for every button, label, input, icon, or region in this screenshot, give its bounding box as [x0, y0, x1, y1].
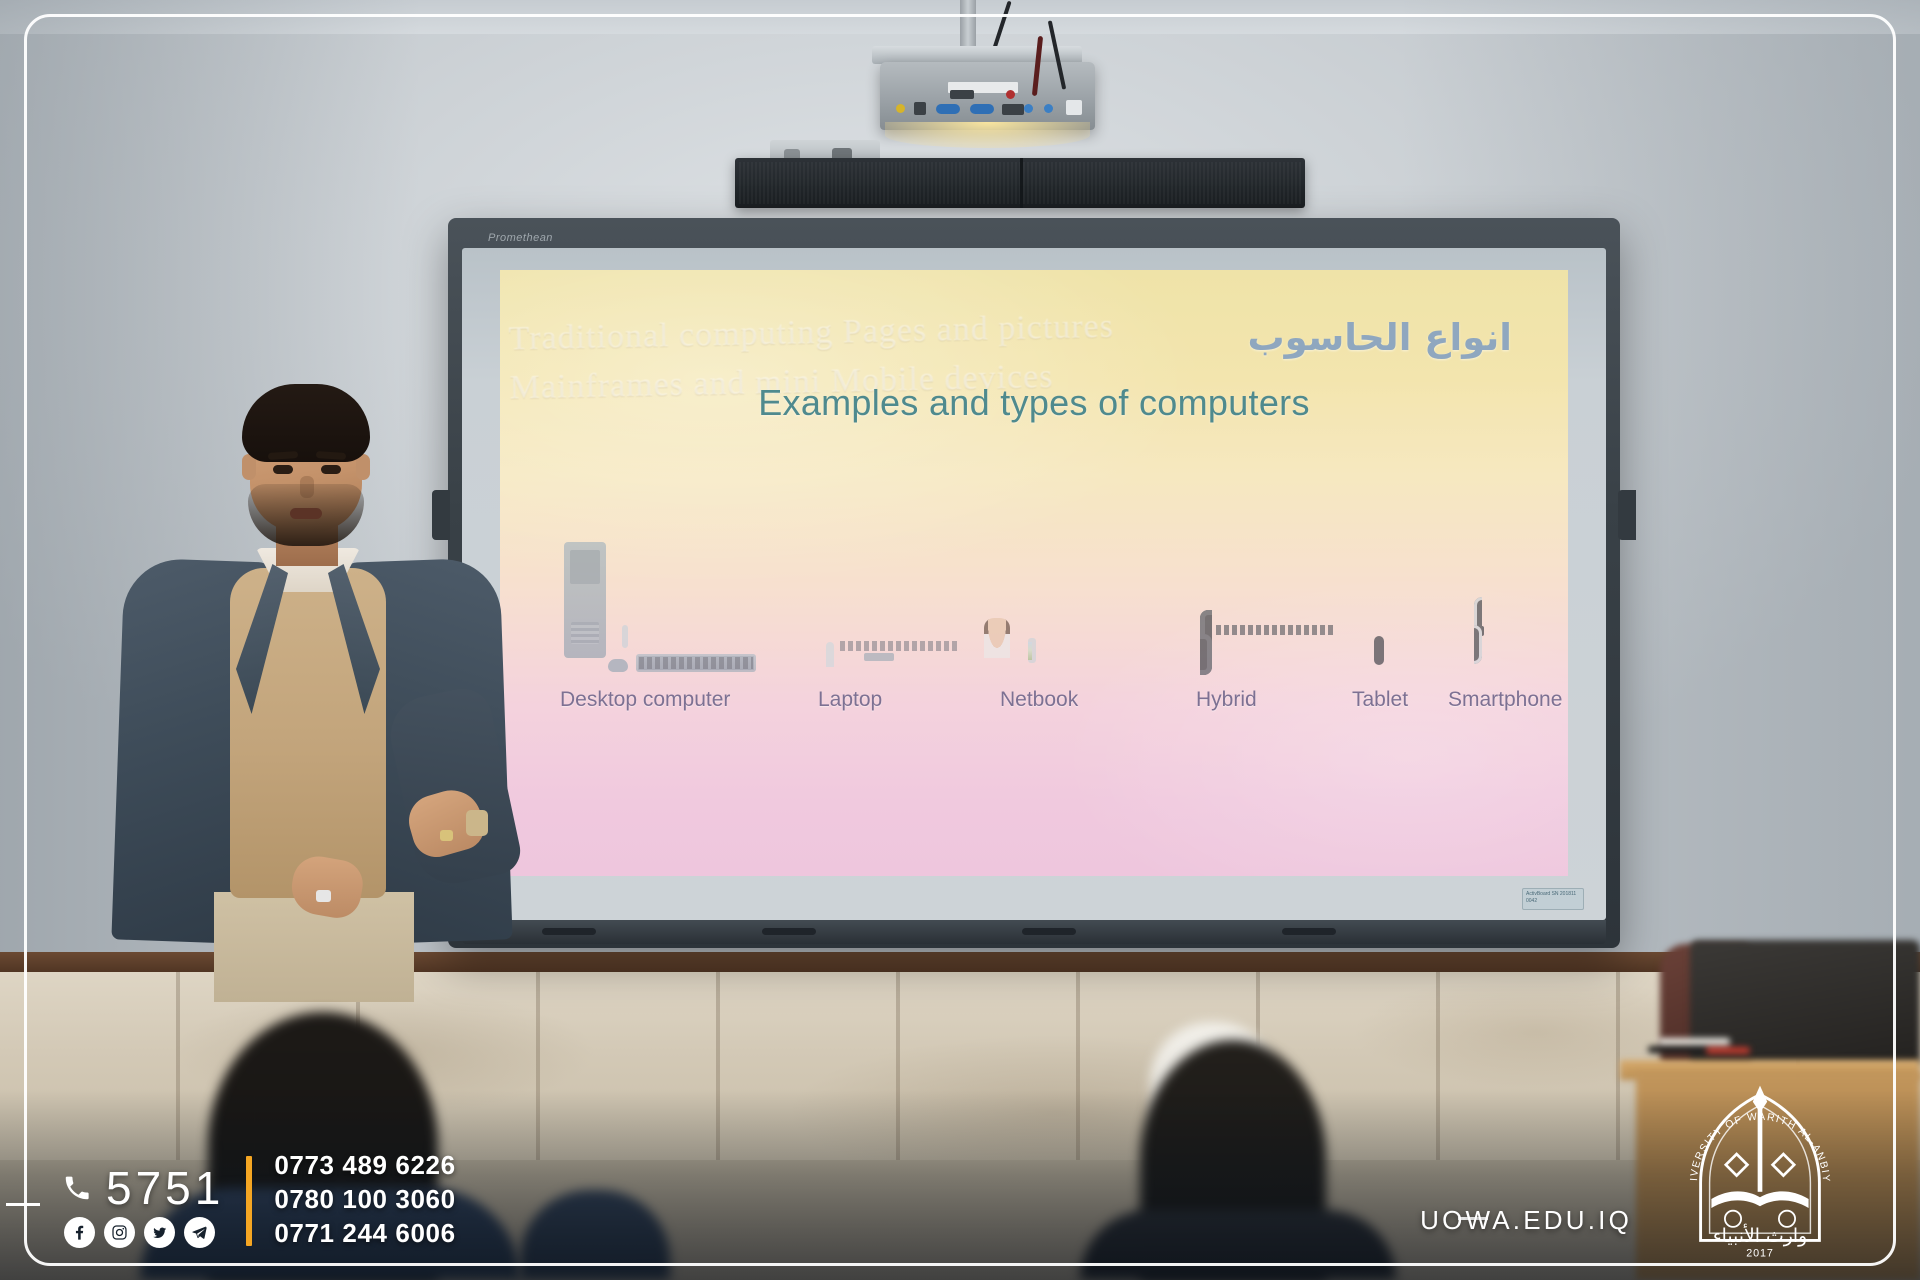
desk-item-papers: [1658, 1038, 1730, 1045]
pen-tray-slot-1: [542, 928, 596, 935]
desktop-keyboard-icon: [636, 654, 756, 672]
whiteboard-pen-tray[interactable]: [462, 920, 1606, 944]
slide-device-netbook: [1028, 642, 1032, 660]
desk-item-marker-black: [1648, 1046, 1712, 1053]
smartphone-body: [1474, 597, 1484, 664]
whiteboard-bracket-right: [1618, 490, 1636, 540]
presenter-eye-left: [273, 465, 293, 474]
logo-ring-text: UNIVERSITY OF WARITH AL-ANBIYAA: [1670, 1082, 1831, 1182]
tower-drive-bay: [570, 550, 600, 584]
hotline-number: 5751: [106, 1165, 224, 1211]
logo-ornament-right: [1773, 1154, 1795, 1176]
logo-year: 2017: [1746, 1248, 1774, 1260]
website-url[interactable]: UOWA.EDU.IQ: [1420, 1205, 1632, 1236]
projector-port-lan: [1066, 100, 1082, 115]
facebook-icon[interactable]: [64, 1217, 95, 1248]
hybrid-icon: [1200, 622, 1212, 664]
phone-number-2: 0780 100 3060: [274, 1185, 455, 1214]
tablet-body: [1374, 636, 1384, 665]
telegram-icon[interactable]: [184, 1217, 215, 1248]
presenter-hair: [242, 384, 370, 462]
netbook-icon: [1028, 642, 1032, 660]
audience-shoulders-right: [1080, 1210, 1396, 1280]
projector-port-audio-r: [1006, 90, 1015, 99]
footer-dash-left: [6, 1203, 40, 1206]
netbook-lid: [1028, 638, 1036, 663]
slide-device-smartphone: [1474, 608, 1484, 654]
wall-soundbar: [735, 158, 1305, 208]
phone-numbers-list: 0773 489 6226 0780 100 3060 0771 244 600…: [274, 1151, 455, 1248]
device-label-desktop-computer: Desktop computer: [560, 688, 730, 712]
projected-slide: Traditional computing Pages and pictures…: [500, 270, 1568, 876]
whiteboard-surface[interactable]: Traditional computing Pages and pictures…: [462, 248, 1606, 920]
monitor-panel: [622, 625, 628, 648]
netbook-wallpaper: [1028, 642, 1032, 660]
presenter-eye-right: [321, 465, 341, 474]
laptop-trackpad: [864, 653, 894, 661]
presenter-wristwatch: [466, 810, 488, 836]
desktop-tower-icon: [564, 542, 606, 658]
phone-number-1: 0773 489 6226: [274, 1151, 455, 1180]
university-logo: UNIVERSITY OF WARITH AL-ANBIYAA وارث الأ…: [1670, 1082, 1850, 1262]
presenter-sweater: [230, 568, 386, 898]
twitter-icon[interactable]: [144, 1217, 175, 1248]
university-logo-mark: UNIVERSITY OF WARITH AL-ANBIYAA وارث الأ…: [1670, 1082, 1850, 1262]
device-label-smartphone: Smartphone: [1448, 688, 1562, 712]
soundbar-seam: [1020, 158, 1023, 208]
presenter-ring-right: [440, 830, 453, 841]
slide-title-arabic: انواع الحاسوب: [1247, 316, 1512, 359]
slide-subtitle-english: Examples and types of computers: [500, 382, 1568, 424]
slide-device-row: [500, 462, 1568, 682]
contact-block: 5751 0773 489 6226 0780 100 3060: [62, 1151, 456, 1248]
hybrid-screen: [1200, 610, 1212, 675]
hotline-row[interactable]: 5751: [62, 1165, 224, 1211]
pen-tray-slot-4: [1282, 928, 1336, 935]
device-label-hybrid: Hybrid: [1196, 688, 1257, 712]
device-label-laptop: Laptop: [818, 688, 882, 712]
projector-port-audio-in: [1024, 104, 1033, 113]
projector-port-serial: [950, 90, 974, 99]
slide-device-hybrid: [1200, 622, 1212, 664]
presenter-mouth: [290, 508, 322, 519]
smartphone-app-grid: [1474, 626, 1484, 636]
phone-icon: [62, 1173, 92, 1203]
laptop-lid: [826, 642, 834, 667]
presenter-ring-left: [316, 890, 331, 902]
device-label-netbook: Netbook: [1000, 688, 1078, 712]
projector-port-audio-out: [1044, 104, 1053, 113]
presenter-person: [110, 392, 530, 992]
slide-device-desktop-computer: [564, 540, 794, 676]
pen-tray-slot-2: [762, 928, 816, 935]
whiteboard-serial-sticker: ActivBoard SN 201811 0042: [1522, 888, 1584, 910]
tablet-icon: [1374, 642, 1384, 660]
podium-desk-items: [1648, 1046, 1768, 1058]
slide-device-labels: Desktop computer Laptop Netbook Hybrid T…: [500, 688, 1568, 728]
logo-open-book: [1711, 1191, 1808, 1208]
projector-mount-pole: [960, 0, 976, 52]
projector-port-vga-2: [970, 104, 994, 114]
projector-port-vga-1: [936, 104, 960, 114]
contact-divider: [246, 1156, 252, 1246]
hybrid-start-tiles: [1200, 640, 1212, 646]
interactive-whiteboard[interactable]: Promethean Traditional computing Pages a…: [448, 218, 1620, 948]
projector-port-hdmi: [1002, 104, 1024, 115]
desktop-mouse-icon: [608, 659, 628, 672]
logo-arabic-name: وارث الأنبياء: [1713, 1224, 1808, 1247]
desktop-monitor-icon: [622, 628, 628, 646]
contact-hotline-group: 5751: [62, 1165, 224, 1248]
logo-ornament-left: [1726, 1154, 1748, 1176]
device-label-tablet: Tablet: [1352, 688, 1408, 712]
pen-tray-slot-3: [1022, 928, 1076, 935]
slide-device-tablet: [1374, 642, 1384, 660]
whiteboard-brand-label: Promethean: [488, 232, 553, 244]
smartphone-icon: [1474, 608, 1484, 654]
instagram-icon[interactable]: [104, 1217, 135, 1248]
desk-item-marker-red: [1706, 1047, 1750, 1054]
photo-scene: Promethean Traditional computing Pages a…: [0, 0, 1920, 1280]
social-icons-row[interactable]: [62, 1217, 224, 1248]
projector-lens-glow: [885, 122, 1090, 148]
phone-number-3: 0771 244 6006: [274, 1219, 455, 1248]
tower-vent: [571, 622, 599, 644]
projector-port-rca: [896, 104, 905, 113]
projector-port-usb: [914, 102, 926, 115]
projector-port-panel: [894, 88, 1082, 118]
